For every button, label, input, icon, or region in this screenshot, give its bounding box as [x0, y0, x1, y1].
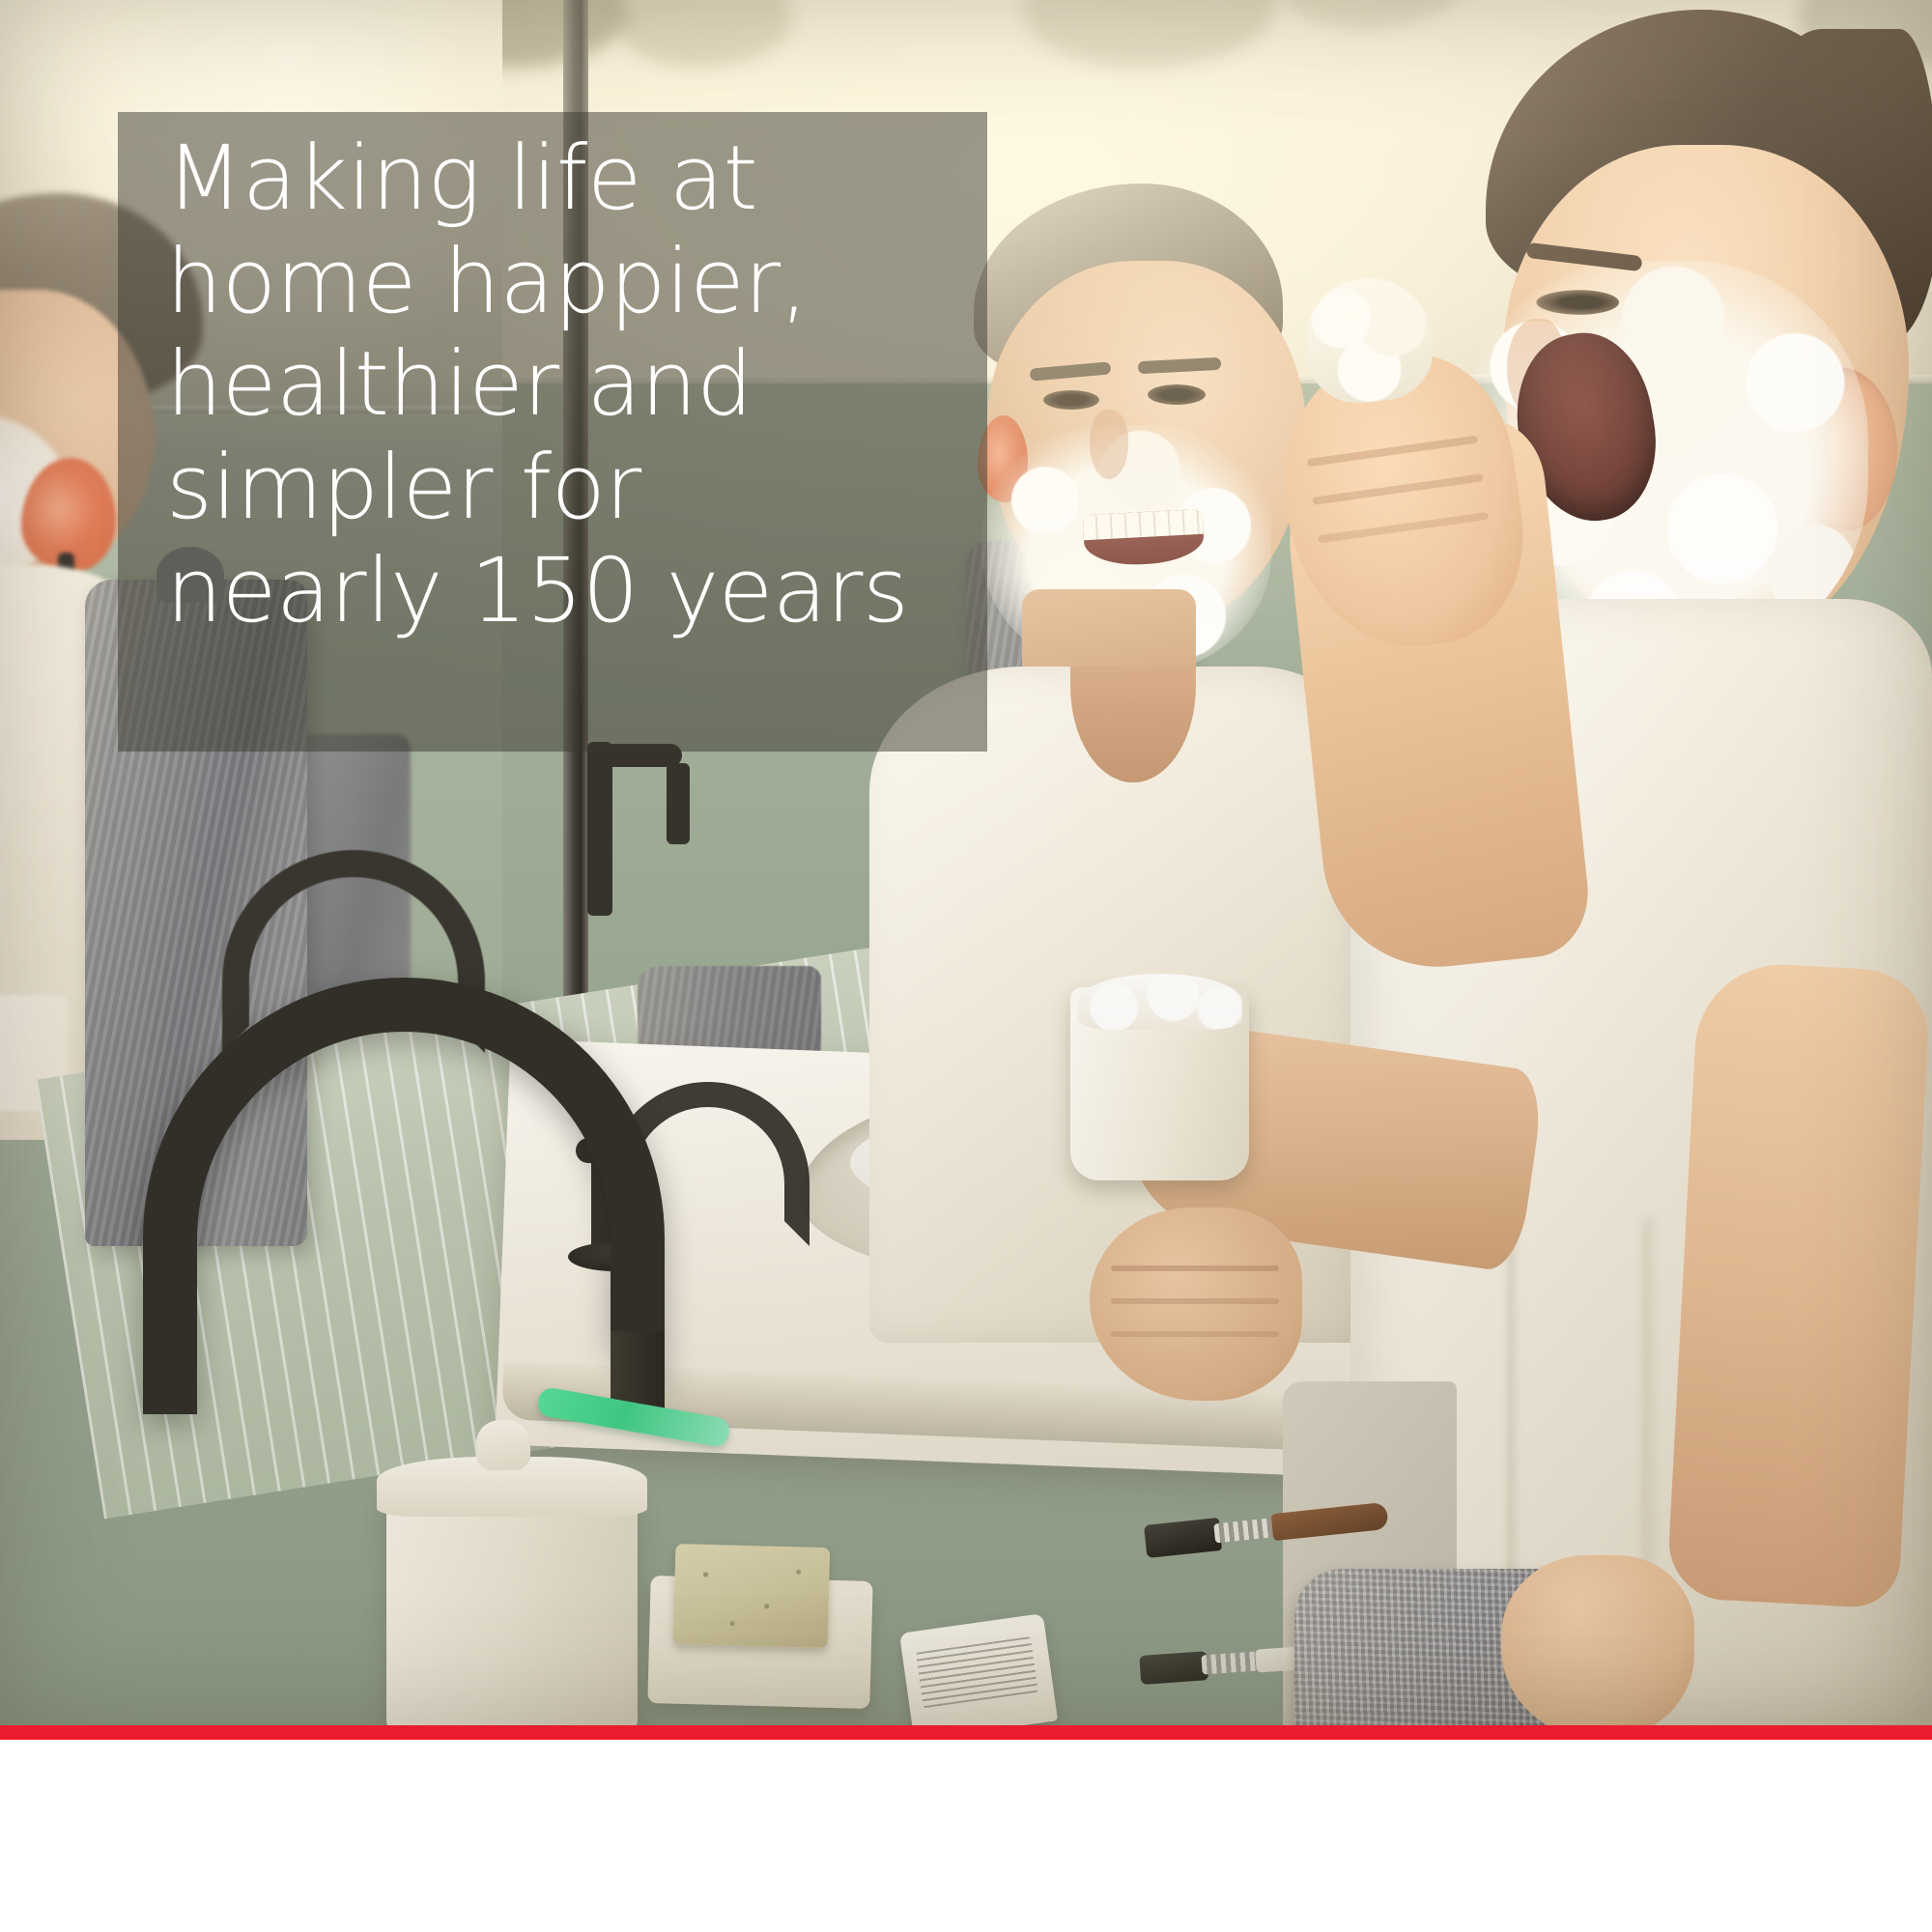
razor-neck [1201, 1651, 1262, 1674]
footer-bar: American Standard [0, 1740, 1932, 1932]
razor-head [1139, 1651, 1208, 1685]
faucet-valve-icon [587, 742, 612, 916]
boy-arm [1666, 960, 1931, 1609]
razor-handle [1270, 1502, 1388, 1541]
man-nose [1090, 410, 1128, 479]
brand-accent-rule [0, 1725, 1932, 1740]
faucet-valve-drop-icon [667, 763, 690, 844]
razor-head [1144, 1518, 1222, 1558]
page-title: Making life at home happier, healthier a… [166, 128, 958, 643]
soap-bar-icon [673, 1544, 831, 1648]
boy-eye [1536, 290, 1619, 315]
man-teeth [1083, 509, 1204, 540]
shaving-cup-foam [1078, 974, 1242, 1030]
razor-neck [1213, 1518, 1279, 1544]
man-eye [1043, 390, 1099, 410]
boy-hand [1501, 1555, 1694, 1725]
ceramic-jar-knob [476, 1420, 530, 1470]
man-eye [1148, 384, 1206, 405]
advertisement-creative: Making life at home happier, healthier a… [0, 0, 1932, 1932]
toothpaste-tube-icon [899, 1613, 1058, 1725]
